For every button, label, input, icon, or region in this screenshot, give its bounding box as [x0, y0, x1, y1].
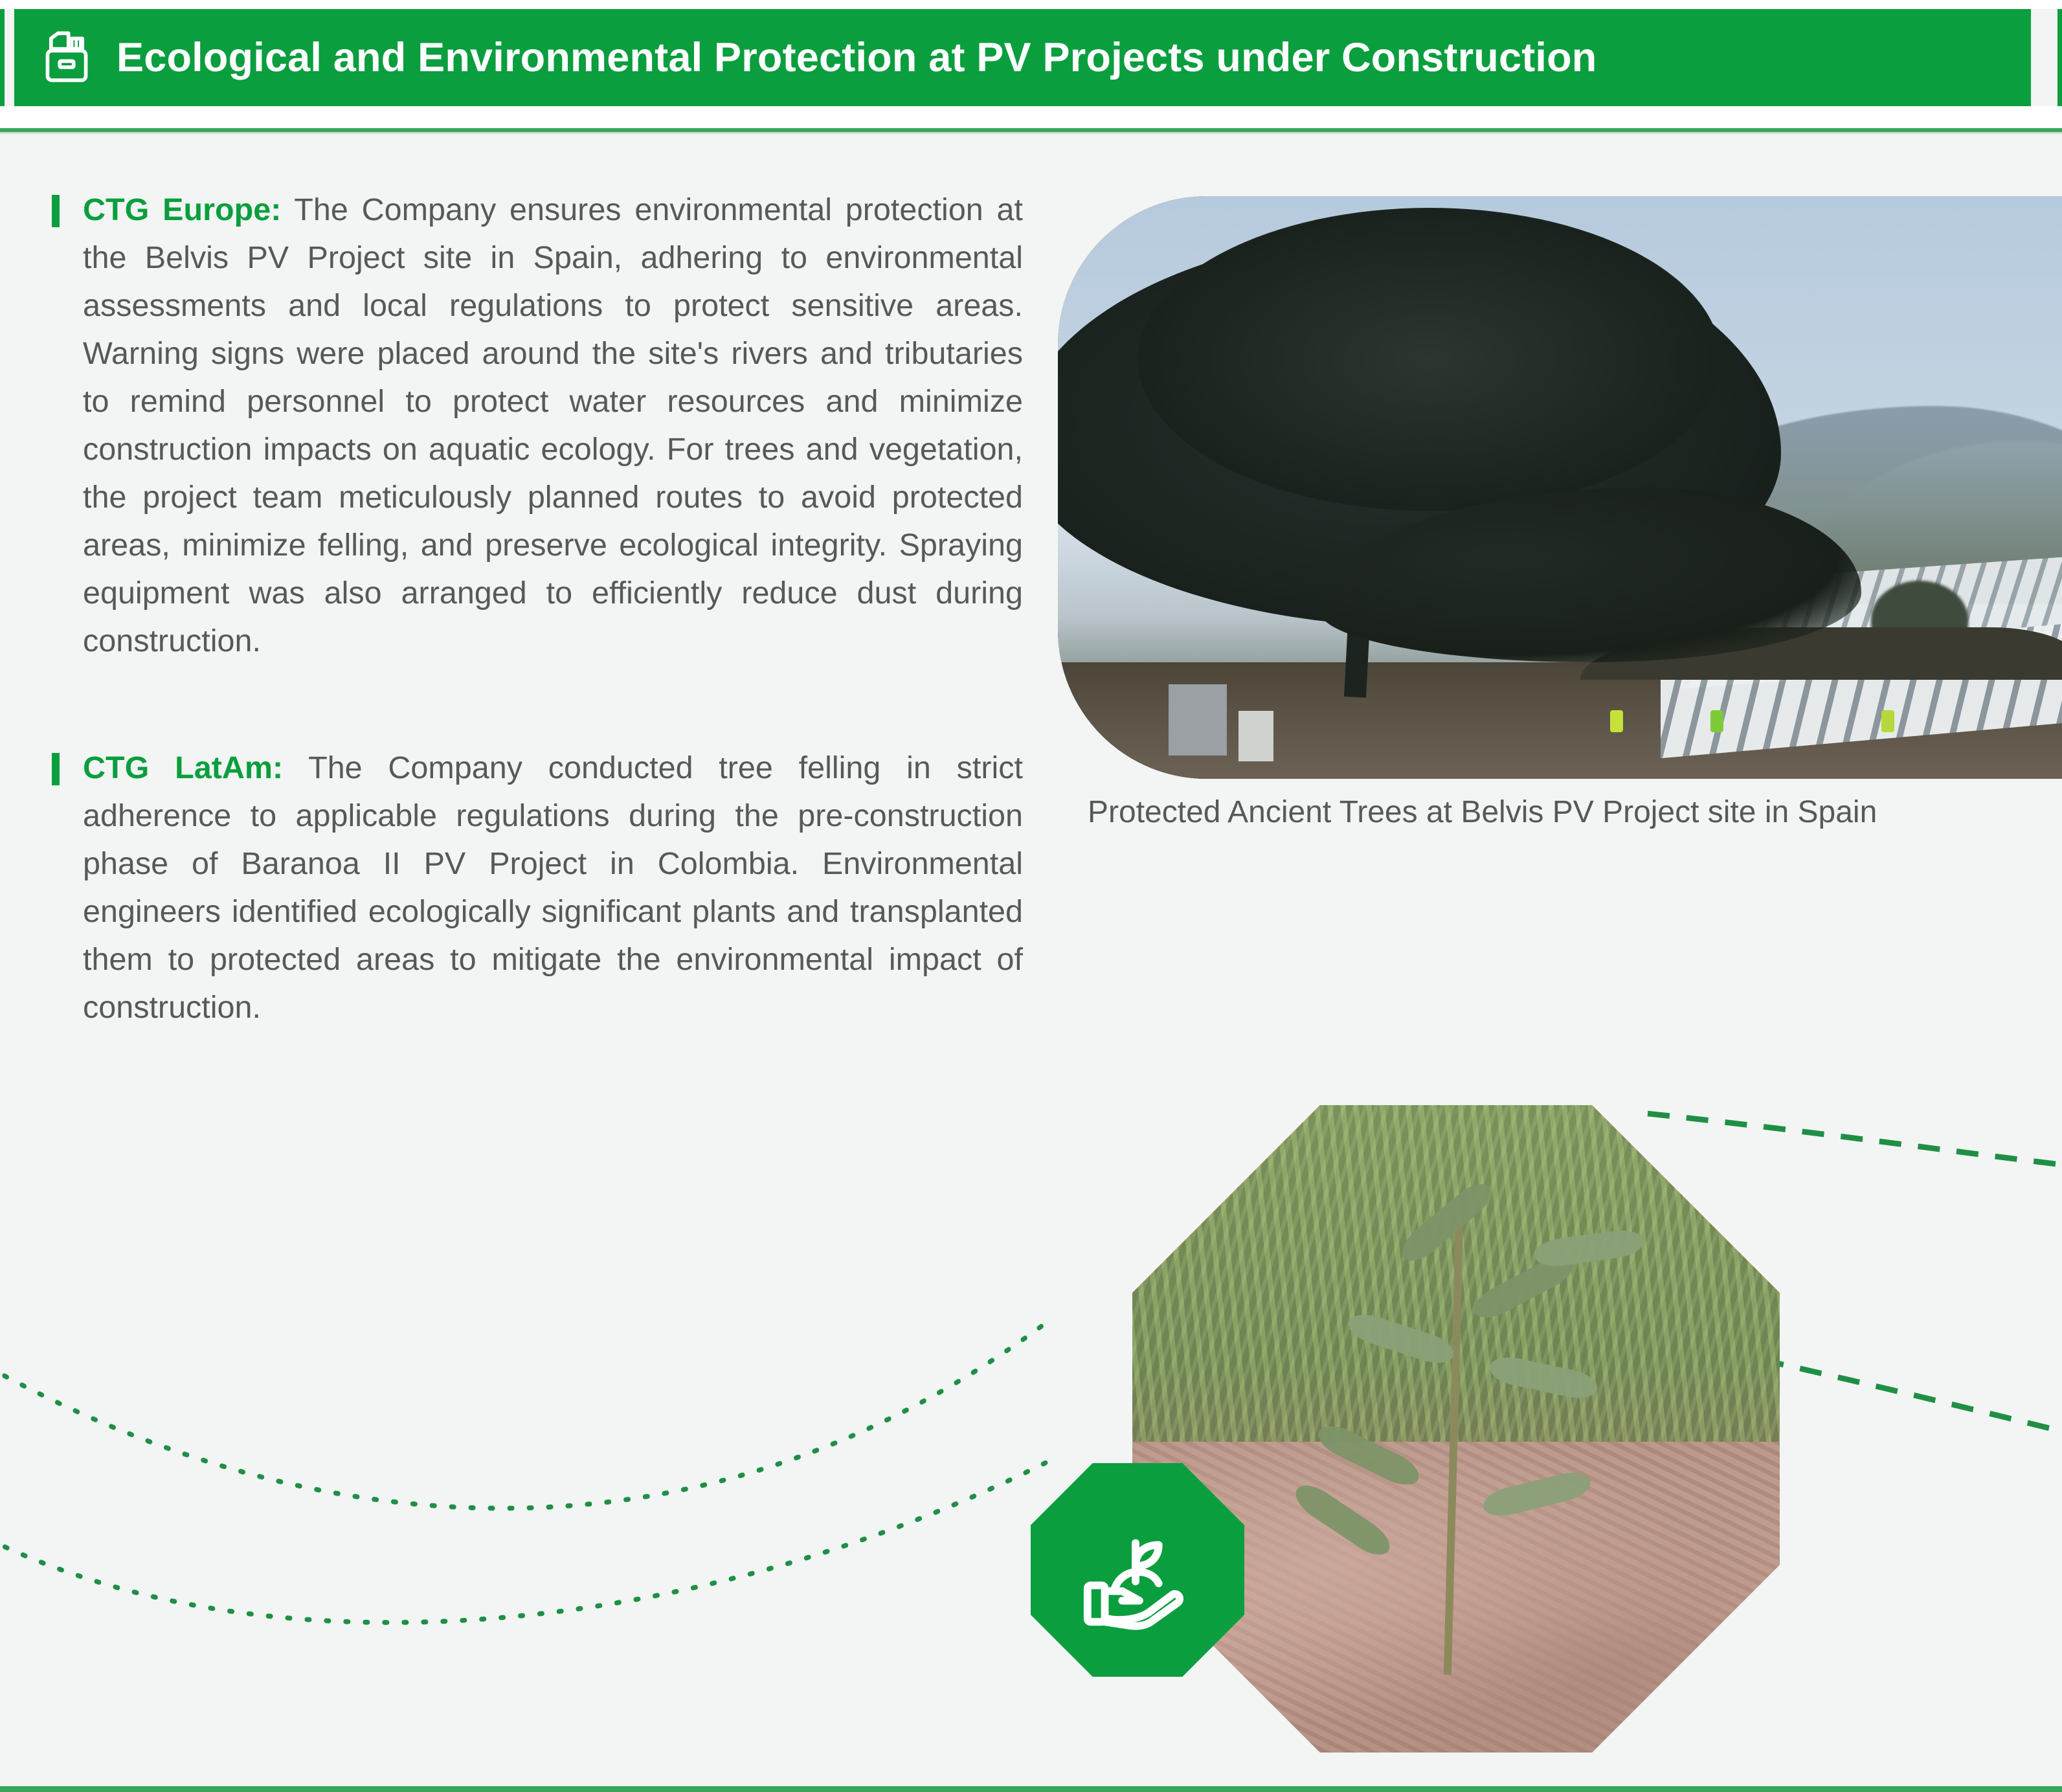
paragraph-marker-bar — [52, 753, 60, 785]
page-frame-top — [0, 0, 2062, 9]
page-root: Ecological and Environmental Protection … — [0, 0, 2062, 1792]
photo-worker — [1881, 710, 1894, 732]
paragraph-marker-bar — [52, 195, 60, 227]
hand-holding-sprout-icon — [1076, 1508, 1199, 1631]
paragraph-ctg-europe: CTG Europe: The Company ensures environm… — [52, 186, 1023, 665]
section-header-bar: Ecological and Environmental Protection … — [14, 9, 2031, 106]
paragraph-ctg-latam: CTG LatAm: The Company conducted tree fe… — [52, 744, 1023, 1031]
paragraph-lead-label: CTG Europe: — [83, 192, 281, 227]
footer-divider-rule — [0, 1786, 2062, 1792]
baranoa-transplanted-plant-photo — [1132, 1105, 1780, 1753]
photo-site-container — [1169, 684, 1227, 756]
paragraph-body-text: The Company ensures environmental protec… — [83, 192, 1023, 658]
photo-ancient-tree-crown — [1138, 208, 1721, 511]
page-frame-band — [0, 106, 2062, 128]
page-title: Ecological and Environmental Protection … — [117, 34, 1597, 81]
figure-caption-belvis: Protected Ancient Trees at Belvis PV Pro… — [1088, 794, 1877, 830]
photo-worker — [1610, 710, 1623, 732]
paragraph-lead-label: CTG LatAm: — [83, 750, 283, 785]
right-edge-accent-bar — [2057, 9, 2062, 106]
paragraph-body-text: The Company conducted tree felling in st… — [83, 750, 1023, 1025]
photo-site-container-small — [1238, 711, 1273, 761]
photo-worker — [1710, 710, 1723, 732]
archive-box-icon — [39, 30, 95, 85]
eco-badge — [1031, 1463, 1244, 1677]
belvis-pv-trees-photo — [1058, 196, 2062, 779]
content-area: CTG Europe: The Company ensures environm… — [0, 134, 2062, 1786]
left-edge-accent-bar — [0, 9, 5, 106]
text-column: CTG Europe: The Company ensures environm… — [52, 186, 1023, 1031]
